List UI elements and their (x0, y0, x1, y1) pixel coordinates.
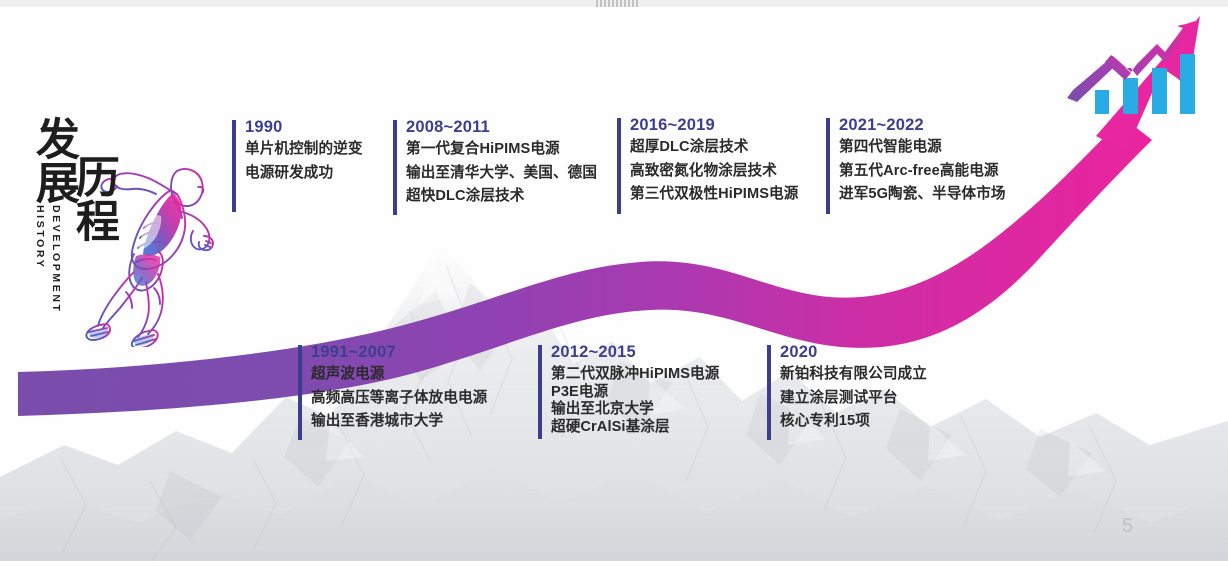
slide-canvas: 发展 历程 DEVELOPMENT HISTORY 1990 单片机控制的逆变 … (0, 0, 1228, 561)
timeline-entry-2016-2019[interactable]: 2016~2019 超厚DLC涂层技术 高致密氮化物涂层技术 第三代双极性HiP… (617, 116, 798, 202)
page-number: 5 (1122, 515, 1133, 538)
entry-line: 电源研发成功 (245, 166, 363, 181)
entry-year: 2008~2011 (406, 118, 597, 137)
entry-year: 2021~2022 (839, 116, 1006, 135)
entry-line: 高致密氮化物涂层技术 (630, 164, 798, 179)
entry-year: 2016~2019 (630, 116, 798, 135)
entry-accent-bar (298, 345, 302, 440)
entry-year: 2020 (780, 343, 927, 362)
timeline-entry-2012-2015[interactable]: 2012~2015 第二代双脉冲HiPIMS电源 P3E电源 输出至北京大学 超… (538, 343, 719, 438)
entry-line: 第二代双脉冲HiPIMS电源 (551, 367, 719, 383)
entry-line: 输出至香港城市大学 (311, 414, 487, 429)
entry-line: 新铂科技有限公司成立 (780, 367, 927, 382)
entry-line: 第一代复合HiPIMS电源 (406, 142, 597, 157)
entry-accent-bar (232, 120, 236, 212)
entry-line: 单片机控制的逆变 (245, 142, 363, 157)
timeline-entry-2008-2011[interactable]: 2008~2011 第一代复合HiPIMS电源 输出至清华大学、美国、德国 超快… (393, 118, 597, 204)
top-edge-artifact (596, 0, 640, 7)
entry-year: 1990 (245, 118, 363, 137)
entry-accent-bar (767, 345, 771, 440)
entry-line: 高频高压等离子体放电电源 (311, 391, 487, 406)
entry-line: 核心专利15项 (780, 414, 927, 429)
entry-line: 建立涂层测试平台 (780, 391, 927, 406)
entry-line: 超厚DLC涂层技术 (630, 140, 798, 155)
timeline-entry-2020[interactable]: 2020 新铂科技有限公司成立 建立涂层测试平台 核心专利15项 (767, 343, 927, 429)
entry-line: 第三代双极性HiPIMS电源 (630, 187, 798, 202)
entry-line: 超快DLC涂层技术 (406, 189, 597, 204)
entry-year: 1991~2007 (311, 343, 487, 362)
page-title-latin-line-1: DEVELOPMENT (50, 205, 62, 314)
entry-line: 第四代智能电源 (839, 140, 1006, 155)
timeline-entry-1991-2007[interactable]: 1991~2007 超声波电源 高频高压等离子体放电电源 输出至香港城市大学 (298, 343, 487, 429)
entry-line: 超声波电源 (311, 367, 487, 382)
entry-year: 2012~2015 (551, 343, 719, 362)
entry-accent-bar (617, 118, 621, 214)
page-title-cjk-line-2: 历程 (70, 154, 115, 242)
entry-line: 超硬CrAlSi基涂层 (551, 420, 719, 436)
entry-line: 进军5G陶瓷、半导体市场 (839, 187, 1006, 202)
page-title: 发展 历程 DEVELOPMENT HISTORY (28, 112, 113, 347)
entry-accent-bar (393, 120, 397, 215)
entry-line: 输出至清华大学、美国、德国 (406, 166, 597, 181)
timeline-entry-1990[interactable]: 1990 单片机控制的逆变 电源研发成功 (232, 118, 363, 180)
entry-line: P3E电源 (551, 385, 719, 401)
growth-chart-icon (1053, 6, 1213, 136)
entry-accent-bar (538, 345, 542, 439)
page-title-latin-line-2: HISTORY (34, 205, 46, 269)
timeline-entry-2021-2022[interactable]: 2021~2022 第四代智能电源 第五代Arc-free高能电源 进军5G陶瓷… (826, 116, 1006, 202)
entry-line: 第五代Arc-free高能电源 (839, 164, 1006, 179)
entry-accent-bar (826, 118, 830, 214)
entry-line: 输出至北京大学 (551, 402, 719, 418)
